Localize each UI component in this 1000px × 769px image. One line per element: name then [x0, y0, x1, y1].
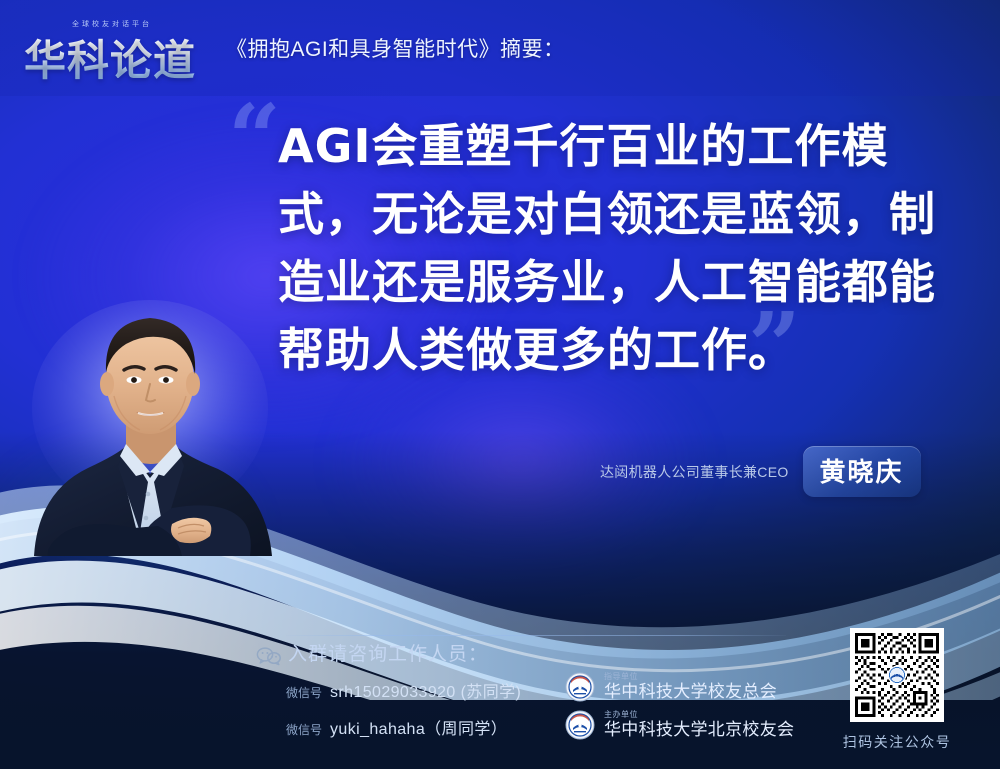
university-seal-icon [565, 672, 595, 702]
university-seal-icon [565, 710, 595, 740]
quote-line: 帮助人类做更多的工作。 [278, 316, 944, 384]
organization-row: 指导单位 华中科技大学校友总会 [565, 672, 777, 702]
contact-value: yuki_hahaha（周同学） [330, 715, 507, 739]
speaker-attribution: 达闼机器人公司董事长兼CEO 黄晓庆 [600, 446, 921, 497]
contact-row: 微信号 yuki_hahaha（周同学） [286, 715, 507, 739]
poster-header: 全球校友对话平台 华科论道 《拥抱AGI和具身智能时代》摘要： [0, 0, 1000, 96]
contact-row: 微信号 srh15029033920 (苏同学) [286, 678, 521, 702]
organization-text: 指导单位 华中科技大学校友总会 [604, 673, 777, 701]
qr-caption: 扫码关注公众号 [832, 732, 962, 752]
quote-line: 造业还是服务业，人工智能都能 [278, 248, 944, 316]
quote-line: AGI会重塑千行百业的工作模 [278, 112, 944, 180]
qr-code-image[interactable] [850, 628, 944, 722]
organization-kicker: 主办单位 [604, 711, 794, 719]
contact-value: srh15029033920 (苏同学) [330, 678, 521, 702]
organization-name: 华中科技大学北京校友会 [604, 721, 794, 739]
footer-divider [286, 635, 786, 636]
quote-line: 式，无论是对白领还是蓝领，制 [278, 180, 944, 248]
quote-open-mark: “ [228, 92, 281, 184]
speaker-title: 达闼机器人公司董事长兼CEO [600, 462, 789, 482]
poster-canvas: 全球校友对话平台 华科论道 《拥抱AGI和具身智能时代》摘要： “ ” AGI会… [0, 0, 1000, 769]
contact-label: 微信号 [286, 684, 322, 701]
quote-text: AGI会重塑千行百业的工作模 式，无论是对白领还是蓝领，制 造业还是服务业，人工… [278, 112, 944, 384]
organization-row: 主办单位 华中科技大学北京校友会 [565, 710, 794, 740]
footer-heading: 入群请咨询工作人员： [288, 639, 488, 666]
speaker-portrait [22, 296, 284, 556]
organization-kicker: 指导单位 [604, 673, 777, 681]
organization-text: 主办单位 华中科技大学北京校友会 [604, 711, 794, 739]
brand-logo-wordmark: 华科论道 [24, 27, 196, 88]
wechat-icon [256, 646, 282, 666]
speaker-name-badge: 黄晓庆 [803, 446, 921, 497]
page-title: 《拥抱AGI和具身智能时代》摘要： [226, 33, 565, 63]
contact-label: 微信号 [286, 721, 322, 738]
brand-logo: 全球校友对话平台 华科论道 [24, 17, 214, 79]
organization-name: 华中科技大学校友总会 [604, 683, 777, 701]
qr-code-block: 扫码关注公众号 [832, 628, 962, 752]
